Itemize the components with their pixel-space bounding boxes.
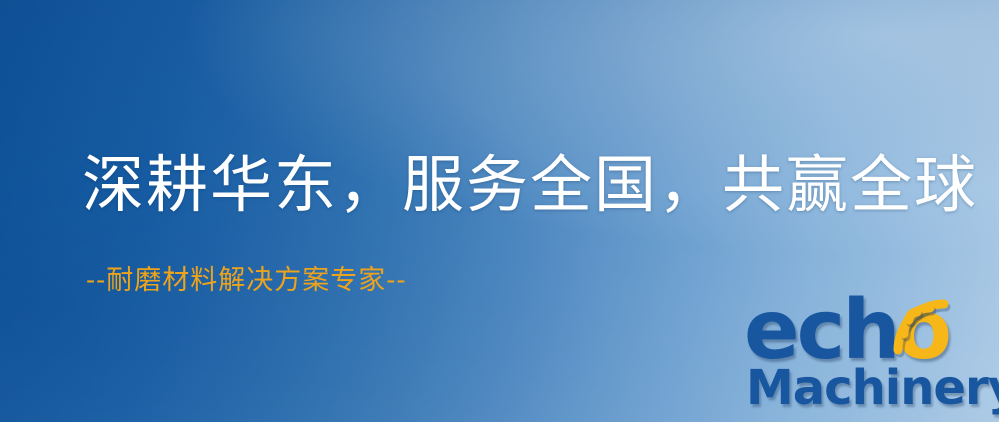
hero-banner: 深耕华东，服务全国，共赢全球 --耐磨材料解决方案专家-- ech o Mach… (0, 0, 999, 422)
logo-wordmark-echo: ech o (744, 292, 949, 370)
banner-subheadline: --耐磨材料解决方案专家-- (86, 266, 407, 296)
logo-wordmark-machinery: Machinery ® (746, 362, 999, 422)
company-logo[interactable]: ech o Machinery ® (744, 292, 996, 418)
logo-machinery-text: Machinery (746, 362, 999, 414)
banner-headline: 深耕华东，服务全国，共赢全球 (82, 152, 978, 219)
logo-echo-o-letter: o (896, 292, 949, 370)
logo-echo-text: ech (744, 292, 898, 370)
